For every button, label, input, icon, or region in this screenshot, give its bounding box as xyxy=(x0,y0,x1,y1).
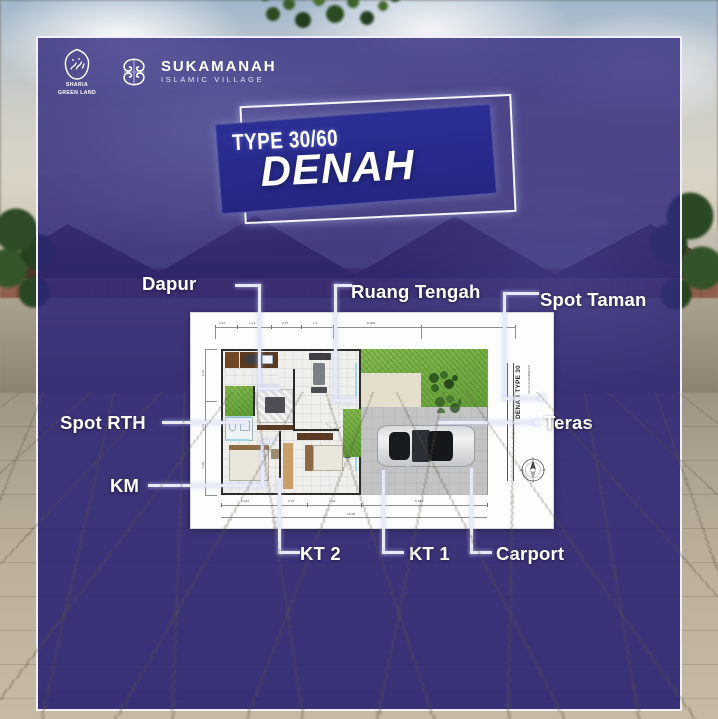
callout-dot-spot-taman xyxy=(539,394,546,401)
dim-tick xyxy=(361,503,362,507)
dim-tick xyxy=(271,325,272,329)
callout-dot-teras xyxy=(534,419,541,426)
callout-leader-ruang-tengah xyxy=(334,284,354,404)
dim-tick xyxy=(307,503,308,507)
callout-label-kt1: KT 1 xyxy=(409,543,450,565)
callout-leader-spot-rth xyxy=(162,421,250,425)
banner-title: DENAH xyxy=(259,141,415,196)
sgl-line2: GREEN LAND xyxy=(58,90,96,96)
callout-leader-dapur xyxy=(235,284,265,392)
callout-label-spot-taman: Spot Taman xyxy=(540,289,647,311)
tv-unit xyxy=(309,353,331,360)
islamic-knot-icon xyxy=(116,54,152,90)
dim-ext-h xyxy=(205,401,217,402)
sgl-line1: SHARIA xyxy=(66,82,88,88)
sukamanah-text: SUKAMANAH ISLAMIC VILLAGE xyxy=(161,59,276,85)
callout-leader-carport xyxy=(466,468,496,558)
callout-label-ruang-tengah: Ruang Tengah xyxy=(351,281,481,303)
kt2-nightstand xyxy=(271,449,279,459)
dim-bottom-0: 2.412 xyxy=(241,499,249,503)
carport-car xyxy=(377,425,475,467)
dim-tick xyxy=(301,325,302,329)
callout-label-carport: Carport xyxy=(496,543,564,565)
dim-left-0: 1.06 xyxy=(201,370,205,376)
brand-lockup: SHARIA GREEN LAND SUKAMANAH ISLAMIC VILL… xyxy=(52,48,276,96)
callout-leader-kt1 xyxy=(378,470,408,558)
dim-tick xyxy=(221,503,222,507)
dim-bottom-3: 5.244 xyxy=(415,499,423,503)
dim-bottom-line xyxy=(221,505,487,506)
callout-label-spot-rth: Spot RTH xyxy=(60,412,146,434)
living-sofa xyxy=(313,363,325,385)
dim-overall-line xyxy=(221,517,487,518)
partition-mid xyxy=(293,429,339,431)
coffee-table xyxy=(311,387,327,393)
dim-top-0: 0.37 xyxy=(219,321,225,325)
leaf-calligraphy-icon xyxy=(62,48,92,80)
callout-leader-spot-taman xyxy=(493,292,539,404)
content-panel: SHARIA GREEN LAND SUKAMANAH ISLAMIC VILL… xyxy=(36,36,682,711)
dim-ext-h xyxy=(205,495,217,496)
garden-shrub-2 xyxy=(431,393,461,413)
callout-label-dapur: Dapur xyxy=(142,273,196,295)
title-banner: TYPE 30/60 DENAH xyxy=(204,94,524,234)
dim-overall: 10.00 xyxy=(347,512,355,516)
callout-label-km: KM xyxy=(110,475,139,497)
living-window xyxy=(355,363,357,397)
callout-leader-km xyxy=(148,440,268,488)
callout-label-kt2: KT 2 xyxy=(300,543,341,565)
dining-table xyxy=(265,397,285,413)
dim-ext-h xyxy=(205,349,217,350)
dim-top-4: 6.002 xyxy=(367,321,375,325)
kt1-bed-head xyxy=(305,445,313,471)
dim-top-2: 0.97 xyxy=(282,321,288,325)
car-windshield xyxy=(389,432,411,461)
dim-ext-v xyxy=(215,327,216,339)
dim-top-3: 1.1 xyxy=(313,321,318,325)
partition-hall xyxy=(293,369,295,429)
logo-sharia-green-land: SHARIA GREEN LAND xyxy=(52,48,102,96)
dining-sideboard xyxy=(257,425,293,430)
callout-leader-kt2 xyxy=(274,478,304,558)
dim-bottom-2: 1.02 xyxy=(329,499,335,503)
sukamanah-subtitle: ISLAMIC VILLAGE xyxy=(161,75,276,85)
dim-ext-v xyxy=(421,327,422,339)
logo-sukamanah: SUKAMANAH ISLAMIC VILLAGE xyxy=(116,54,276,90)
callout-label-teras: Teras xyxy=(544,412,593,434)
teras-paving xyxy=(361,373,421,407)
kt1-wardrobe xyxy=(297,433,333,440)
north-compass-icon xyxy=(520,457,546,483)
side-garden-strip xyxy=(343,409,361,457)
callout-leader-teras xyxy=(438,421,542,425)
car-rear-window xyxy=(428,431,453,460)
sukamanah-name: SUKAMANAH xyxy=(161,59,276,75)
kt1-bed xyxy=(313,445,343,471)
garden-shrub xyxy=(425,369,463,395)
